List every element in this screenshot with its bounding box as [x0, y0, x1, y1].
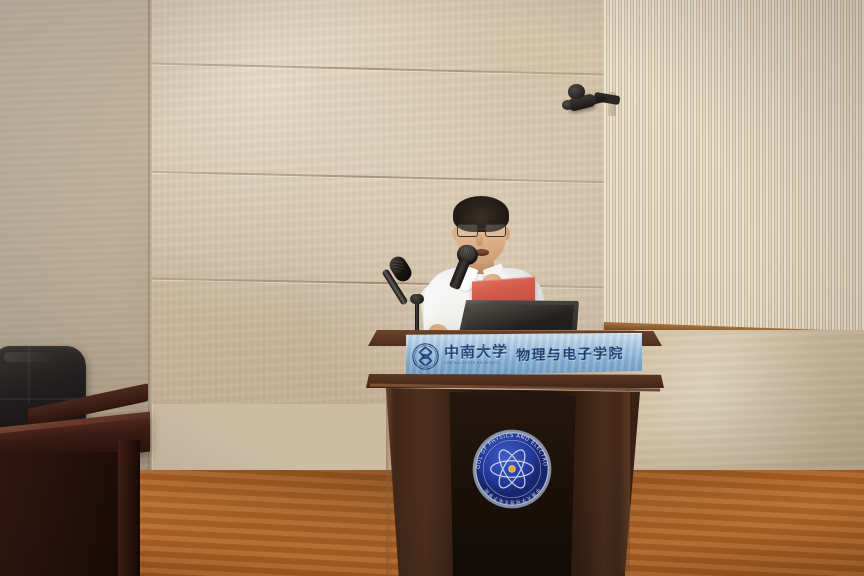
school-emblem-seal: SCHOOL OF PHYSICS AND ELECTRONICS 中南大学物理… — [471, 428, 553, 510]
surveillance-camera — [560, 78, 622, 126]
banner-department-name: 物理与电子学院 — [516, 347, 624, 363]
camera-head — [568, 84, 585, 99]
desk-leg — [118, 440, 140, 576]
podium-edge-right — [618, 390, 630, 572]
laptop-screen — [464, 304, 574, 330]
podium-edge-left — [386, 388, 394, 576]
banner-university-name: 中南大学 — [444, 344, 508, 360]
chair-highlight — [4, 352, 58, 362]
banner-university-name-en: CENTRAL SOUTH UNIVERSITY — [444, 362, 508, 365]
photo-scene: 中南大学 CENTRAL SOUTH UNIVERSITY 物理与电子学院 — [0, 0, 864, 576]
desk-front-panel — [0, 452, 122, 576]
wall-seam-horizontal — [152, 171, 604, 183]
chair-seam — [28, 346, 30, 404]
wall-panel-right-striped — [604, 0, 864, 330]
camera-lens-icon — [562, 100, 573, 110]
nose — [476, 234, 483, 246]
podium-banner: 中南大学 CENTRAL SOUTH UNIVERSITY 物理与电子学院 — [406, 333, 642, 377]
wall-seam-horizontal — [152, 62, 604, 75]
podium: 中南大学 CENTRAL SOUTH UNIVERSITY 物理与电子学院 — [366, 330, 664, 576]
csu-logo-icon — [412, 343, 439, 370]
mic-stand-joint — [410, 294, 424, 304]
